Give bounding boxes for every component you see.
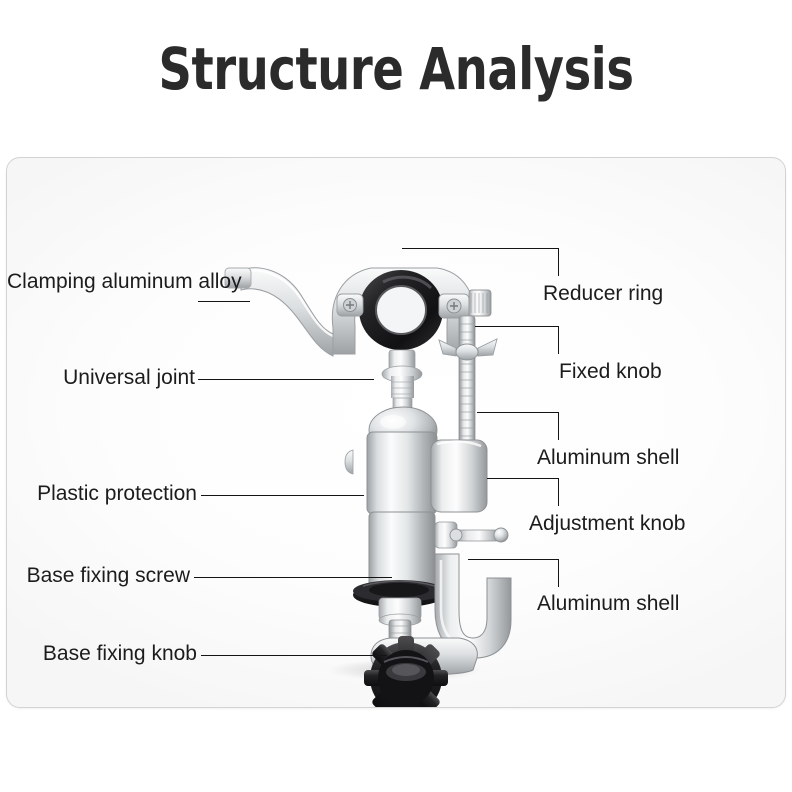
leader-clamping-aluminum-alloy <box>198 301 250 302</box>
label-base-fixing-knob: Base fixing knob <box>7 642 197 666</box>
label-adjustment-knob: Adjustment knob <box>529 512 777 536</box>
page-title: Structure Analysis <box>79 38 713 100</box>
label-aluminum-shell-upper: Aluminum shell <box>537 446 777 470</box>
label-clamping-aluminum-alloy: Clamping aluminum alloy <box>7 270 195 294</box>
leader-plastic-protection <box>201 495 364 496</box>
leader-universal-joint <box>198 379 374 380</box>
leader-reducer-ring-drop <box>558 248 559 276</box>
label-reducer-ring: Reducer ring <box>543 282 773 306</box>
label-fixed-knob: Fixed knob <box>559 360 786 384</box>
leader-aluminum-shell-upper-drop <box>558 412 559 440</box>
leader-base-fixing-knob <box>201 655 387 656</box>
leader-fixed-knob-drop <box>558 326 559 354</box>
leader-reducer-ring <box>402 248 559 249</box>
label-universal-joint: Universal joint <box>7 366 195 390</box>
leader-base-fixing-screw <box>194 577 392 578</box>
label-base-fixing-screw: Base fixing screw <box>7 564 190 588</box>
leader-aluminum-shell-lower <box>468 559 559 560</box>
leader-adjustment-knob <box>487 478 559 479</box>
label-plastic-protection: Plastic protection <box>7 482 197 506</box>
product-illustration <box>7 158 786 708</box>
leader-aluminum-shell-lower-drop <box>558 559 559 587</box>
label-aluminum-shell-lower: Aluminum shell <box>537 592 777 616</box>
leader-aluminum-shell-upper <box>477 412 559 413</box>
leader-adjustment-knob-drop <box>558 478 559 506</box>
structure-diagram-card: Clamping aluminum alloy Universal joint … <box>6 157 786 708</box>
leader-fixed-knob <box>475 326 559 327</box>
